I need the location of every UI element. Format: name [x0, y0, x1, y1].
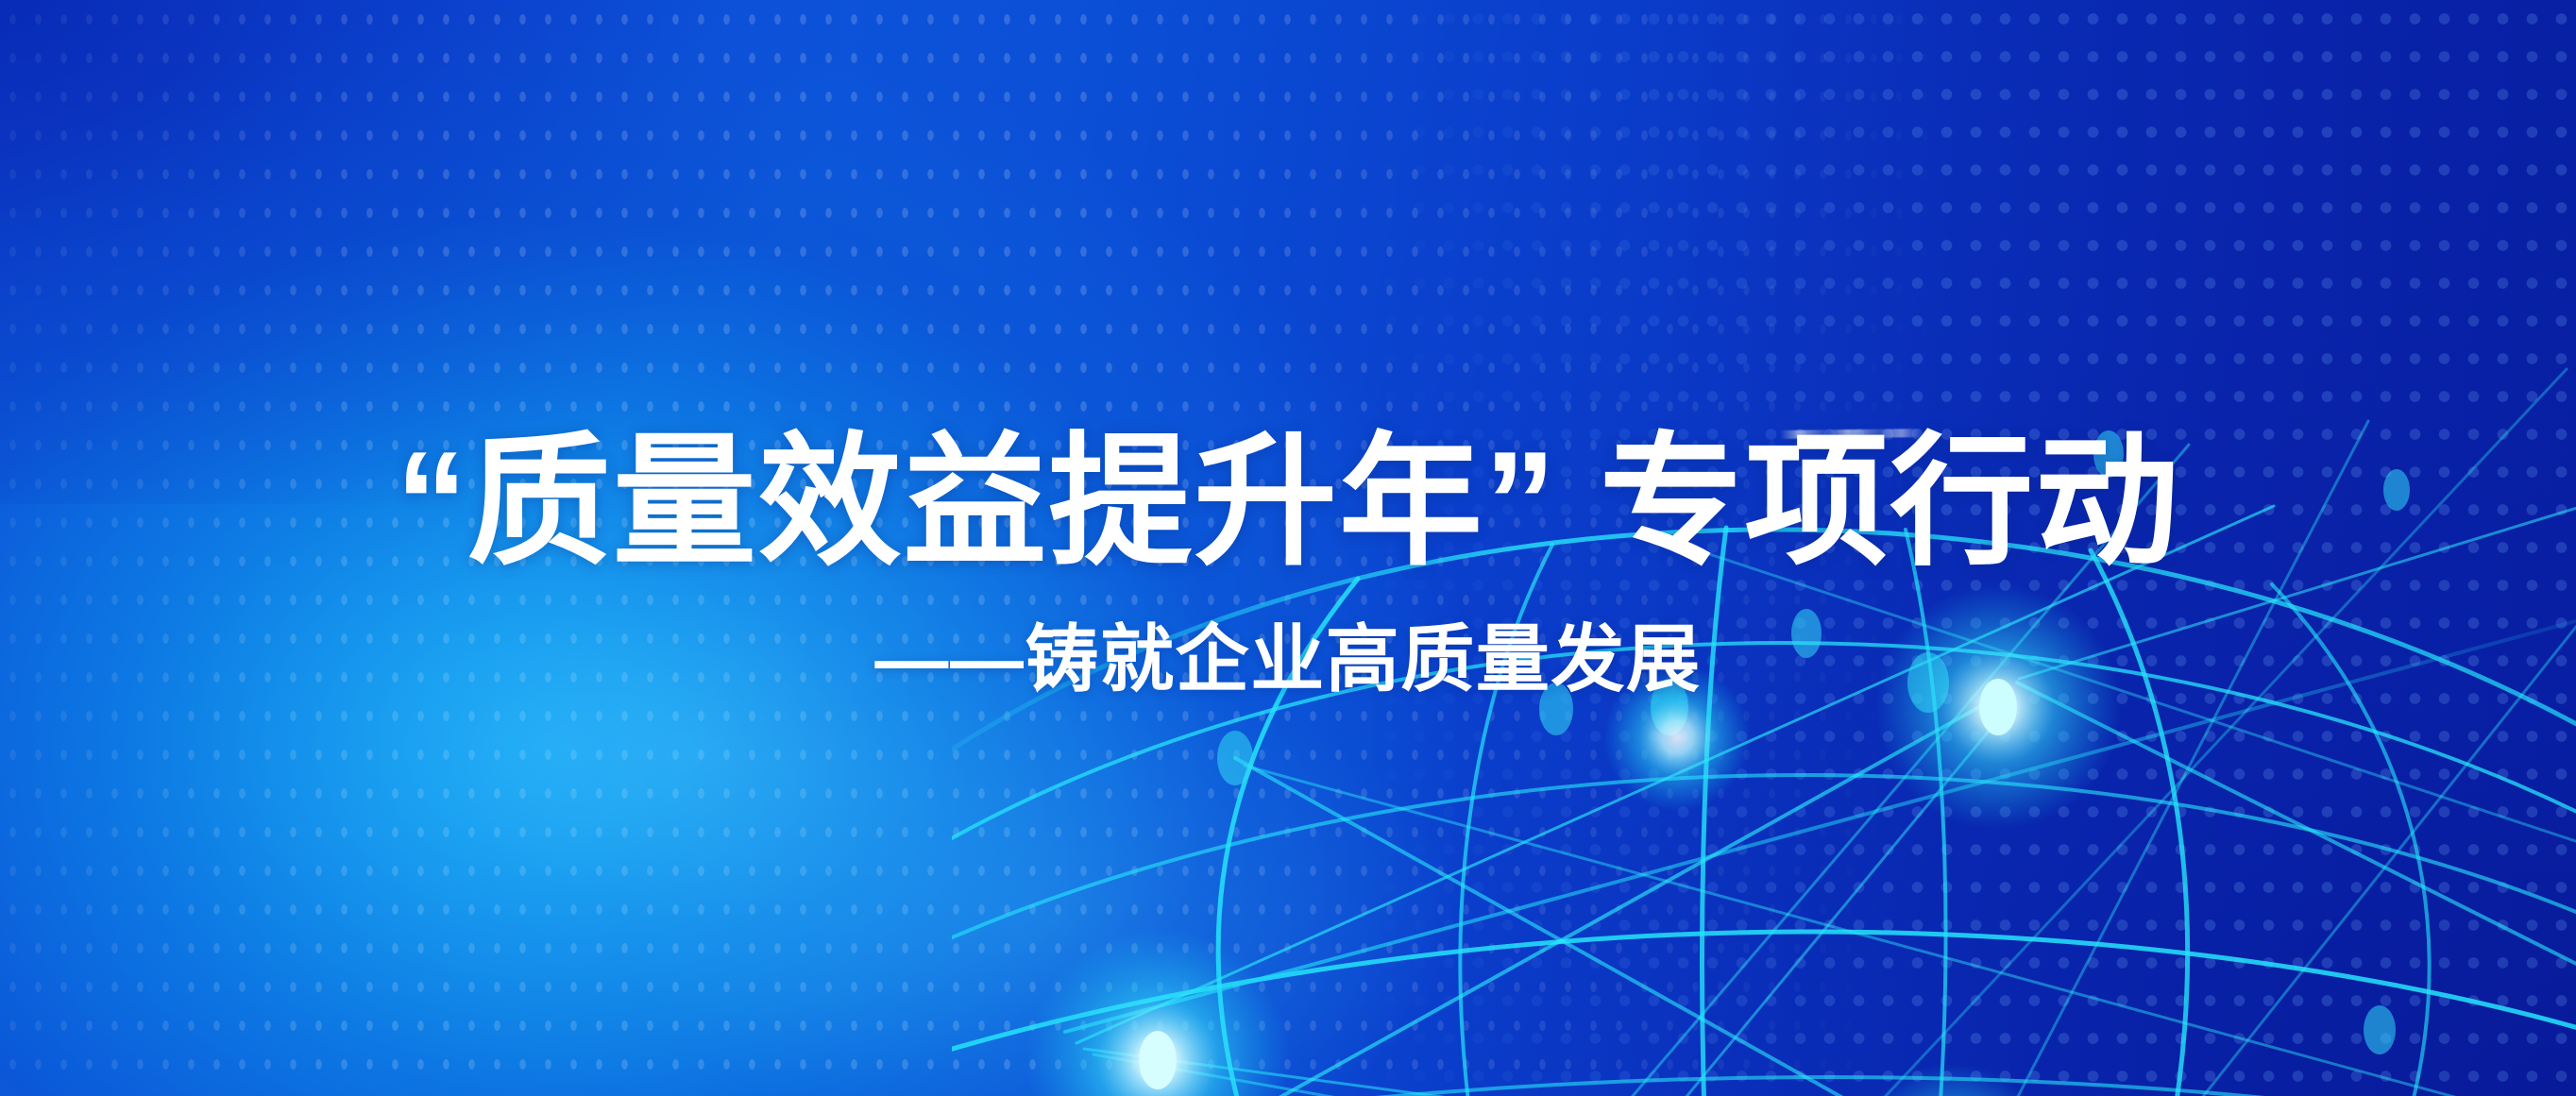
subheadline-dash: —— [874, 617, 1025, 700]
headline-open-quote: “ [396, 422, 467, 582]
banner-headline: “质量效益提升年”专项行动 [0, 430, 2576, 576]
headline-quoted-text: 质量效益提升年 [467, 422, 1484, 582]
headline-tail-text: 专项行动 [1600, 422, 2180, 582]
headline-close-quote: ” [1484, 422, 1556, 582]
subheadline-text: 铸就企业高质量发展 [1025, 617, 1702, 700]
promo-banner: “质量效益提升年”专项行动 ——铸就企业高质量发展 [0, 0, 2576, 1096]
banner-text-block: “质量效益提升年”专项行动 ——铸就企业高质量发展 [0, 430, 2576, 699]
banner-subheadline: ——铸就企业高质量发展 [0, 621, 2576, 699]
